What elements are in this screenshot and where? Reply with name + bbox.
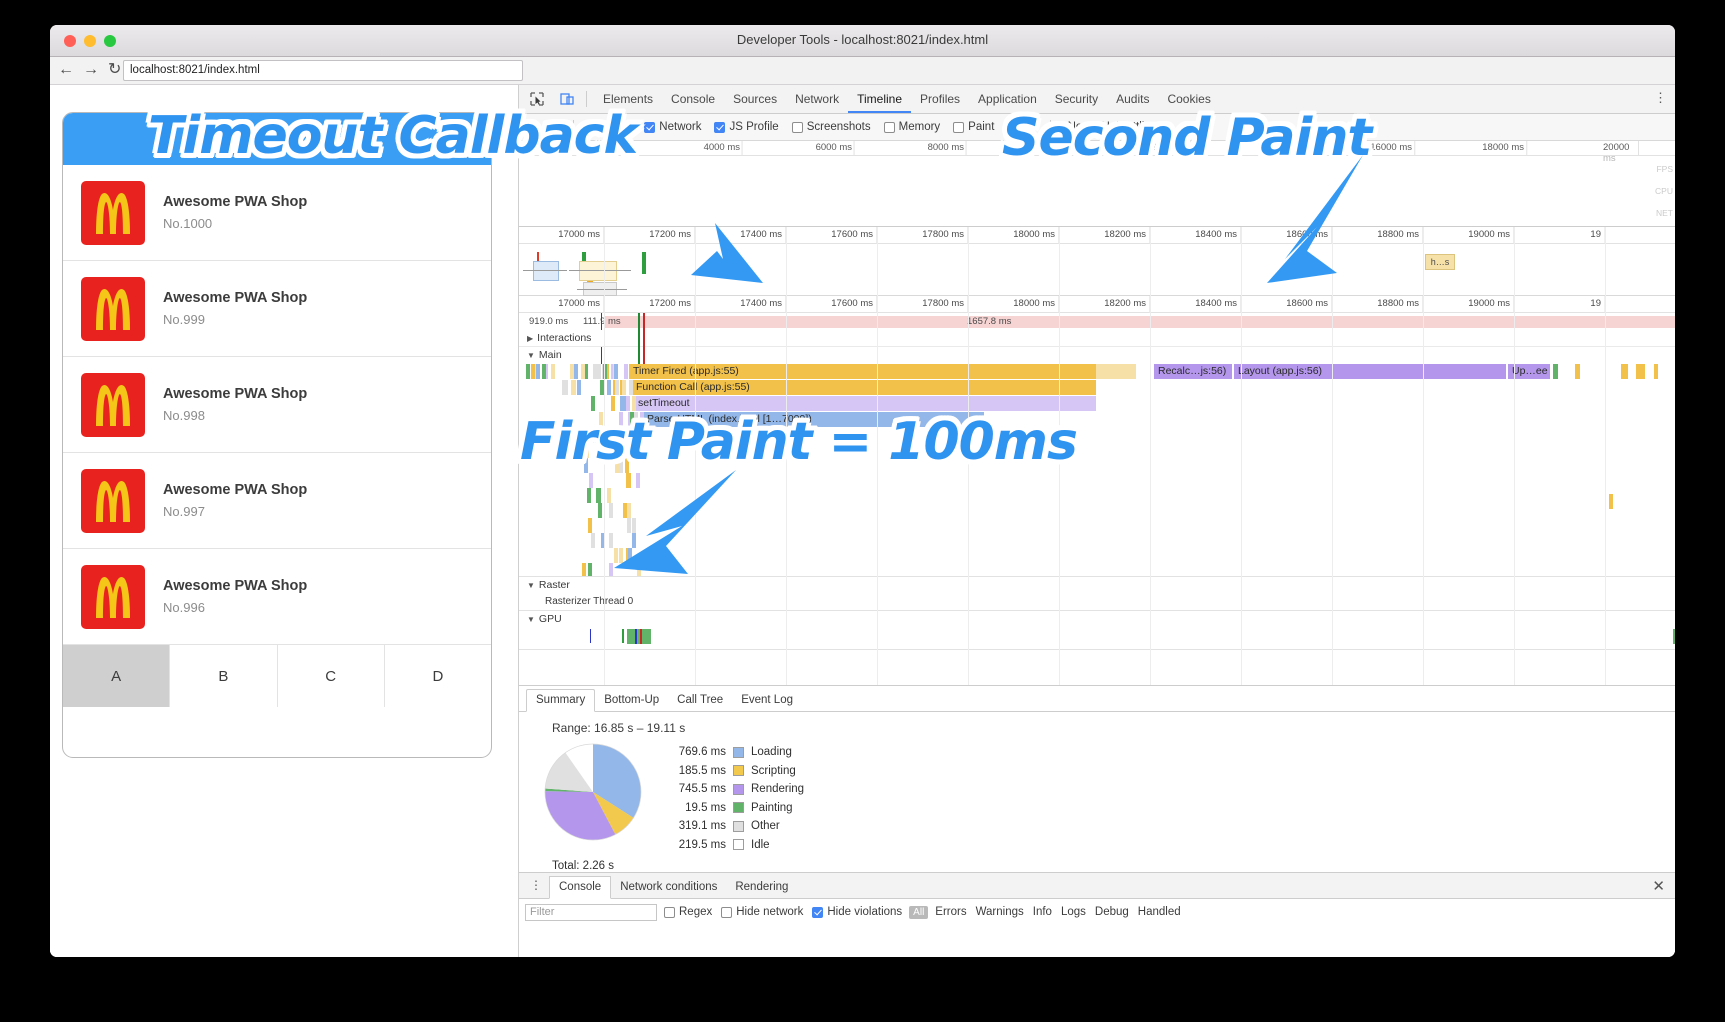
annotation-timeout-callback: Timeout Callback xyxy=(148,106,637,166)
group-row-interactions[interactable]: ▶Interactions xyxy=(519,330,1675,347)
legend-value: 219.5 ms xyxy=(664,839,726,851)
shop-logo xyxy=(81,373,145,437)
shop-logo xyxy=(81,277,145,341)
drawer-tabbar[interactable]: ⋮ ConsoleNetwork conditionsRendering ✕ xyxy=(519,873,1675,899)
timeline-tick: 17600 ms xyxy=(831,229,877,240)
flame-tick[interactable] xyxy=(542,364,546,379)
annotation-first-paint: First Paint = 100ms xyxy=(520,412,1077,472)
timeline-tick: 18200 ms xyxy=(1104,229,1150,240)
window-titlebar: Developer Tools - localhost:8021/index.h… xyxy=(50,25,1675,57)
tab-timeline[interactable]: Timeline xyxy=(848,85,911,113)
tab-console[interactable]: Console xyxy=(662,85,724,113)
shop-text: Awesome PWA ShopNo.998 xyxy=(163,386,307,423)
forward-arrow-icon[interactable]: → xyxy=(83,61,99,79)
summary-tab-bottom-up[interactable]: Bottom-Up xyxy=(595,690,668,711)
overview-tick: 18000 ms xyxy=(1482,142,1527,153)
shop-text: Awesome PWA ShopNo.999 xyxy=(163,290,307,327)
chevron-down-icon-main[interactable]: ▼ xyxy=(527,347,535,364)
gpu-bar-1[interactable] xyxy=(627,629,651,644)
chevron-down-icon-raster[interactable]: ▼ xyxy=(527,577,535,594)
tab-profiles[interactable]: Profiles xyxy=(911,85,969,113)
flame-bar-script-a[interactable] xyxy=(1575,364,1580,379)
arrow-first-paint xyxy=(590,470,745,580)
drawer-tab-network-conditions[interactable]: Network conditions xyxy=(611,877,726,898)
legend-swatch xyxy=(733,821,744,832)
list-item[interactable]: Awesome PWA ShopNo.996 xyxy=(63,549,491,645)
flame-tick[interactable] xyxy=(591,396,595,411)
legend-row-other: 319.1 msOther xyxy=(664,817,804,836)
console-drawer: ⋮ ConsoleNetwork conditionsRendering ✕ R… xyxy=(519,872,1675,925)
phone-tab-c[interactable]: C xyxy=(278,645,385,707)
grid-line xyxy=(1514,227,1515,685)
legend-row-idle: 219.5 msIdle xyxy=(664,836,804,855)
filmstrip-whisker-3 xyxy=(577,289,627,290)
legend-value: 185.5 ms xyxy=(664,765,726,777)
shop-name: Awesome PWA Shop xyxy=(163,290,307,306)
timeline-tick: 19 xyxy=(1590,298,1605,309)
drawer-tab-rendering[interactable]: Rendering xyxy=(726,877,797,898)
grid-line xyxy=(1423,227,1424,685)
flame-tick[interactable] xyxy=(615,380,619,395)
shop-list: Awesome PWA ShopNo.1000Awesome PWA ShopN… xyxy=(63,165,491,645)
grid-line xyxy=(1241,227,1242,685)
capture-checkbox-paint[interactable]: Paint xyxy=(953,121,994,133)
legend-label: Loading xyxy=(751,746,792,758)
group-label-raster: Raster xyxy=(539,579,570,591)
capture-checkbox-js-profile[interactable]: JS Profile xyxy=(714,121,778,133)
summary-tabbar[interactable]: SummaryBottom-UpCall TreeEvent Log xyxy=(519,686,1675,712)
checkbox-label: Hide network xyxy=(736,906,803,918)
flame-tick[interactable] xyxy=(593,364,597,379)
legend-label: Painting xyxy=(751,802,793,814)
flamechart-ruler: 17000 ms17200 ms17400 ms17600 ms17800 ms… xyxy=(519,296,1675,313)
flame-bar-layout[interactable]: Layout (app.js:56) xyxy=(1234,364,1506,379)
flame-tick-late[interactable] xyxy=(1609,494,1613,509)
console-checkbox-hide-violations[interactable]: Hide violations xyxy=(812,906,902,918)
filter-input[interactable] xyxy=(525,904,657,921)
console-level-warnings[interactable]: Warnings xyxy=(976,906,1024,918)
arrow-second-paint xyxy=(1245,155,1375,295)
capture-checkbox-memory[interactable]: Memory xyxy=(884,121,941,133)
chevron-right-icon[interactable]: ▶ xyxy=(527,330,533,347)
flame-tick[interactable] xyxy=(574,364,578,379)
timeline-tick: 18600 ms xyxy=(1286,298,1332,309)
arrow-timeout-callback xyxy=(640,150,780,295)
back-arrow-icon[interactable]: ← xyxy=(58,61,74,79)
phone-tab-d[interactable]: D xyxy=(385,645,491,707)
flame-tick[interactable] xyxy=(526,364,530,379)
summary-total: Total: 2.26 s xyxy=(519,854,1675,872)
shop-number: No.997 xyxy=(163,504,307,519)
network-label-2: 1657.8 ms xyxy=(967,316,1011,327)
window-title: Developer Tools - localhost:8021/index.h… xyxy=(50,32,1675,47)
legend-row-loading: 769.6 msLoading xyxy=(664,743,804,762)
flame-tick[interactable] xyxy=(622,380,626,395)
shop-logo xyxy=(81,565,145,629)
timeline-tick: 17000 ms xyxy=(558,298,604,309)
bottom-tabbar[interactable]: ABCD xyxy=(63,645,491,707)
flame-bar-script-c[interactable] xyxy=(1636,364,1645,379)
group-label-main: Main xyxy=(539,349,562,361)
console-level-logs[interactable]: Logs xyxy=(1061,906,1086,918)
timeline-tick: 17600 ms xyxy=(831,298,877,309)
flame-bar-0-tail[interactable] xyxy=(1096,364,1136,379)
reload-icon[interactable]: ↻ xyxy=(108,61,121,79)
flame-tick[interactable] xyxy=(531,364,535,379)
interactions-marker-green xyxy=(638,330,640,347)
device-frame: Awesome PWA ShopNo.1000Awesome PWA ShopN… xyxy=(62,112,492,758)
flame-empty-space xyxy=(519,649,1675,685)
flame-tick[interactable] xyxy=(611,396,615,411)
grid-line xyxy=(1605,227,1606,685)
flame-tick[interactable] xyxy=(624,364,628,379)
flame-tick[interactable] xyxy=(632,396,636,411)
network-fp-marker xyxy=(638,313,640,330)
flame-tick[interactable] xyxy=(562,380,566,395)
drawer-tab-console[interactable]: Console xyxy=(549,876,611,899)
flame-tick[interactable] xyxy=(536,364,540,379)
main-dcl-marker xyxy=(601,347,602,364)
legend-swatch xyxy=(733,839,744,850)
checkbox-box[interactable] xyxy=(953,122,964,133)
console-checkbox-regex[interactable]: Regex xyxy=(664,906,712,918)
grid-line xyxy=(1150,227,1151,685)
flame-tick[interactable] xyxy=(582,563,586,576)
overview-tick: 6000 ms xyxy=(816,142,855,153)
timeline-tick: 19000 ms xyxy=(1468,298,1514,309)
flame-tick[interactable] xyxy=(629,380,633,395)
timeline-tick: 18200 ms xyxy=(1104,298,1150,309)
gpu-marker-red xyxy=(640,629,642,644)
checkbox-label: Screenshots xyxy=(807,121,871,133)
legend-swatch xyxy=(733,802,744,813)
mcdonalds-logo-icon xyxy=(87,286,139,332)
overview-tick: 16000 ms xyxy=(1370,142,1415,153)
flame-bar-recalc[interactable]: Recalc…js:56) xyxy=(1154,364,1232,379)
checkbox-label: Network xyxy=(659,121,701,133)
legend-label: Idle xyxy=(751,839,770,851)
checkbox-box[interactable] xyxy=(664,907,675,918)
filmstrip-marker-green-1 xyxy=(582,252,586,261)
filmstrip-screenshot-label[interactable]: h…s xyxy=(1425,254,1455,270)
flame-bar-script-b[interactable] xyxy=(1621,364,1628,379)
flame-bar-paint-0[interactable] xyxy=(1553,364,1558,379)
phone-tab-a[interactable]: A xyxy=(63,645,170,707)
shop-logo xyxy=(81,469,145,533)
address-bar-input[interactable]: localhost:8021/index.html xyxy=(123,60,523,81)
flame-tick[interactable] xyxy=(607,380,611,395)
shop-name: Awesome PWA Shop xyxy=(163,386,307,402)
capture-checkbox-network[interactable]: Network xyxy=(644,121,701,133)
legend-row-rendering: 745.5 msRendering xyxy=(664,780,804,799)
flame-tick[interactable] xyxy=(614,364,618,379)
grid-line xyxy=(1332,227,1333,685)
checkbox-box[interactable] xyxy=(792,122,803,133)
checkbox-label: Hide violations xyxy=(827,906,902,918)
list-item[interactable]: Awesome PWA ShopNo.1000 xyxy=(63,165,491,261)
flame-bar-script-d[interactable] xyxy=(1654,364,1658,379)
list-item[interactable]: Awesome PWA ShopNo.998 xyxy=(63,357,491,453)
gpu-marker-green xyxy=(622,629,624,643)
timeline-tick: 17800 ms xyxy=(922,298,968,309)
main-load-marker xyxy=(643,347,645,364)
checkbox-box[interactable] xyxy=(884,122,895,133)
mcdonalds-logo-icon xyxy=(87,382,139,428)
mcdonalds-logo-icon xyxy=(87,190,139,236)
tab-network[interactable]: Network xyxy=(786,85,848,113)
network-summary-row[interactable]: 919.0 ms 111.9 ms 1657.8 ms xyxy=(519,313,1675,330)
list-item[interactable]: Awesome PWA ShopNo.999 xyxy=(63,261,491,357)
flame-tick[interactable] xyxy=(551,364,555,379)
pie-legend: 769.6 msLoading185.5 msScripting745.5 ms… xyxy=(664,743,804,854)
browser-toolbar: ← → ↻ localhost:8021/index.html xyxy=(50,57,1675,85)
filmstrip-frame-2[interactable] xyxy=(579,261,617,281)
legend-value: 19.5 ms xyxy=(664,802,726,814)
network-dcl-marker xyxy=(601,313,602,330)
toolbar-divider xyxy=(586,91,587,107)
legend-label: Scripting xyxy=(751,765,796,777)
timeline-tick: 18400 ms xyxy=(1195,298,1241,309)
summary-tab-summary[interactable]: Summary xyxy=(526,689,595,712)
phone-tab-b[interactable]: B xyxy=(170,645,277,707)
overview-tick: 8000 ms xyxy=(928,142,967,153)
flame-bar-timer-fired[interactable]: Timer Fired (app.js:55) xyxy=(629,364,1096,379)
group-label-interactions: Interactions xyxy=(537,332,591,344)
filmstrip-whisker-2 xyxy=(569,270,631,271)
filmstrip-frame-1[interactable] xyxy=(533,261,559,281)
timeline-tick: 17000 ms xyxy=(558,229,604,240)
shop-name: Awesome PWA Shop xyxy=(163,578,307,594)
more-options-icon[interactable]: ⋮ xyxy=(1654,90,1667,106)
main-fp-marker xyxy=(638,347,640,364)
summary-range: Range: 16.85 s – 19.11 s xyxy=(519,712,1675,735)
filmstrip-whisker-1 xyxy=(523,270,567,271)
timeline-tick: 17200 ms xyxy=(649,298,695,309)
shop-logo xyxy=(81,181,145,245)
legend-row-scripting: 185.5 msScripting xyxy=(664,762,804,781)
timeline-tick: 17400 ms xyxy=(740,298,786,309)
timeline-tick: 18000 ms xyxy=(1013,298,1059,309)
flame-tick[interactable] xyxy=(577,380,581,395)
timeline-tick: 19 xyxy=(1590,229,1605,240)
shop-text: Awesome PWA ShopNo.1000 xyxy=(163,194,307,231)
summary-panel: SummaryBottom-UpCall TreeEvent Log Range… xyxy=(519,685,1675,872)
mcdonalds-logo-icon xyxy=(87,574,139,620)
checkbox-box[interactable] xyxy=(714,122,725,133)
shop-text: Awesome PWA ShopNo.997 xyxy=(163,482,307,519)
legend-label: Other xyxy=(751,820,780,832)
screenshot-root: Developer Tools - localhost:8021/index.h… xyxy=(0,0,1725,1022)
timeline-tick: 18400 ms xyxy=(1195,229,1241,240)
filmstrip-marker-red xyxy=(537,252,539,261)
console-level-handled[interactable]: Handled xyxy=(1138,906,1181,918)
legend-swatch xyxy=(733,765,744,776)
activity-pie-chart xyxy=(544,743,642,854)
flame-tick[interactable] xyxy=(626,396,630,411)
raster-thread-row[interactable]: Rasterizer Thread 0 xyxy=(519,593,1675,610)
flame-bar-function-call[interactable]: Function Call (app.js:55) xyxy=(632,380,1096,395)
interactions-marker-red xyxy=(643,330,645,347)
flame-bar-settimeout[interactable]: setTimeout xyxy=(634,396,1096,411)
summary-body: 769.6 msLoading185.5 msScripting745.5 ms… xyxy=(519,735,1675,854)
summary-tab-event-log[interactable]: Event Log xyxy=(732,690,802,711)
flame-tick[interactable] xyxy=(597,364,601,379)
pie-svg xyxy=(544,743,642,841)
shop-text: Awesome PWA ShopNo.996 xyxy=(163,578,307,615)
legend-label: Rendering xyxy=(751,783,804,795)
group-row-main[interactable]: ▼Main xyxy=(519,347,1675,364)
legend-swatch xyxy=(733,747,744,758)
summary-tab-call-tree[interactable]: Call Tree xyxy=(668,690,732,711)
flame-tick[interactable] xyxy=(622,396,626,411)
network-label-0: 919.0 ms xyxy=(529,316,568,327)
gpu-row[interactable] xyxy=(519,627,1675,649)
close-icon[interactable]: ✕ xyxy=(1652,877,1665,895)
shop-number: No.999 xyxy=(163,312,307,327)
console-level-errors[interactable]: Errors xyxy=(935,906,966,918)
checkbox-label: Memory xyxy=(899,121,941,133)
shop-name: Awesome PWA Shop xyxy=(163,482,307,498)
legend-value: 319.1 ms xyxy=(664,820,726,832)
chevron-down-icon-gpu[interactable]: ▼ xyxy=(527,611,535,628)
gpu-bar-2[interactable] xyxy=(1673,629,1675,644)
checkbox-box[interactable] xyxy=(721,907,732,918)
gpu-marker-blue xyxy=(590,629,591,643)
legend-value: 769.6 ms xyxy=(664,746,726,758)
navigation-buttons[interactable]: ← → ↻ xyxy=(58,61,121,79)
timeline-tick: 18800 ms xyxy=(1377,229,1423,240)
timeline-tick: 17800 ms xyxy=(922,229,968,240)
flame-tick[interactable] xyxy=(581,364,585,379)
shop-number: No.998 xyxy=(163,408,307,423)
checkbox-box[interactable] xyxy=(812,907,823,918)
drawer-more-icon[interactable]: ⋮ xyxy=(530,878,542,892)
timeline-tick: 18000 ms xyxy=(1013,229,1059,240)
console-level-debug[interactable]: Debug xyxy=(1095,906,1129,918)
flame-tick[interactable] xyxy=(571,380,575,395)
list-item[interactable]: Awesome PWA ShopNo.997 xyxy=(63,453,491,549)
checkbox-label: Regex xyxy=(679,906,712,918)
shop-number: No.996 xyxy=(163,600,307,615)
checkbox-label: JS Profile xyxy=(729,121,778,133)
window-content: Awesome PWA ShopNo.1000Awesome PWA ShopN… xyxy=(50,85,1675,957)
console-level-info[interactable]: Info xyxy=(1033,906,1052,918)
console-filter-bar[interactable]: RegexHide networkHide violations All Err… xyxy=(519,899,1675,925)
gpu-marker-blue-2 xyxy=(635,629,637,644)
checkbox-label: Paint xyxy=(968,121,994,133)
mcdonalds-logo-icon xyxy=(87,478,139,524)
all-levels-button[interactable]: All xyxy=(909,906,928,919)
console-checkbox-hide-network[interactable]: Hide network xyxy=(721,906,803,918)
group-label-gpu: GPU xyxy=(539,613,562,625)
legend-row-painting: 19.5 msPainting xyxy=(664,799,804,818)
page-preview-pane: Awesome PWA ShopNo.1000Awesome PWA ShopN… xyxy=(50,85,519,957)
capture-checkbox-screenshots[interactable]: Screenshots xyxy=(792,121,871,133)
shop-name: Awesome PWA Shop xyxy=(163,194,307,210)
legend-value: 745.5 ms xyxy=(664,783,726,795)
timeline-tick: 18800 ms xyxy=(1377,298,1423,309)
network-load-marker xyxy=(643,313,645,330)
group-row-gpu[interactable]: ▼GPU xyxy=(519,610,1675,627)
timeline-tick: 19000 ms xyxy=(1468,229,1514,240)
raster-thread-label: Rasterizer Thread 0 xyxy=(545,593,633,610)
legend-swatch xyxy=(733,784,744,795)
tab-sources[interactable]: Sources xyxy=(724,85,786,113)
shop-number: No.1000 xyxy=(163,216,307,231)
checkbox-box[interactable] xyxy=(644,122,655,133)
